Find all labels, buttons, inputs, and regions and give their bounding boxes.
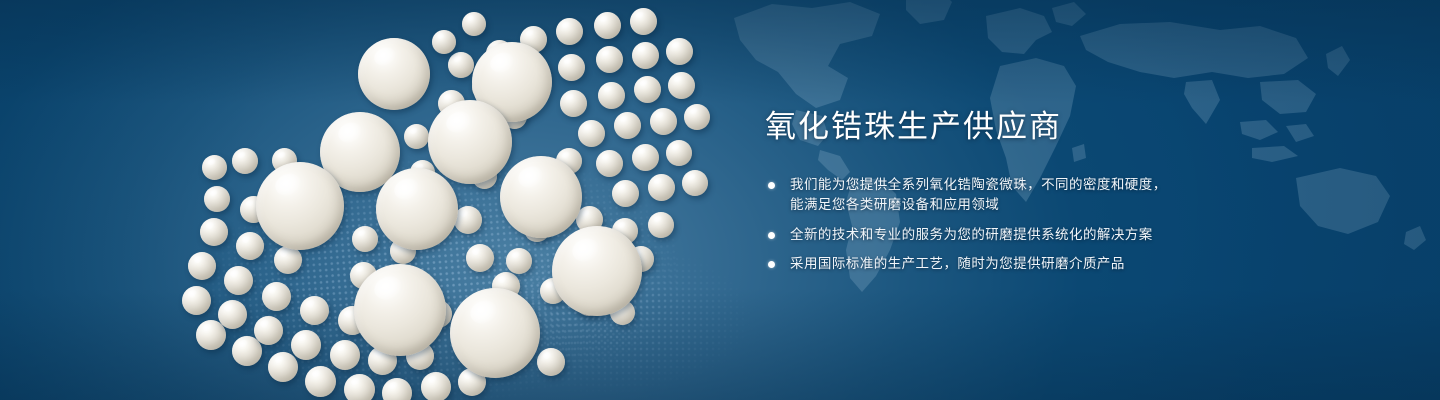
list-item: 全新的技术和专业的服务为您的研磨提供系统化的解决方案 xyxy=(765,225,1365,246)
bullet-dot-icon xyxy=(768,261,775,268)
bullet-dot-icon xyxy=(768,232,775,239)
bullet-dot-icon xyxy=(768,182,775,189)
banner-text-block: 氧化锆珠生产供应商 我们能为您提供全系列氧化锆陶瓷微珠，不同的密度和硬度， 能满… xyxy=(765,108,1365,275)
hero-banner: 氧化锆珠生产供应商 我们能为您提供全系列氧化锆陶瓷微珠，不同的密度和硬度， 能满… xyxy=(0,0,1440,400)
bullet-line: 采用国际标准的生产工艺，随时为您提供研磨介质产品 xyxy=(790,254,1365,275)
list-item: 我们能为您提供全系列氧化锆陶瓷微珠，不同的密度和硬度， 能满足您各类研磨设备和应… xyxy=(765,175,1365,216)
page-title: 氧化锆珠生产供应商 xyxy=(765,108,1365,147)
feature-bullet-list: 我们能为您提供全系列氧化锆陶瓷微珠，不同的密度和硬度， 能满足您各类研磨设备和应… xyxy=(765,175,1365,275)
bullet-line: 全新的技术和专业的服务为您的研磨提供系统化的解决方案 xyxy=(790,225,1365,246)
bullet-line: 能满足您各类研磨设备和应用领域 xyxy=(790,195,1365,216)
list-item: 采用国际标准的生产工艺，随时为您提供研磨介质产品 xyxy=(765,254,1365,275)
bullet-line: 我们能为您提供全系列氧化锆陶瓷微珠，不同的密度和硬度， xyxy=(790,175,1365,196)
